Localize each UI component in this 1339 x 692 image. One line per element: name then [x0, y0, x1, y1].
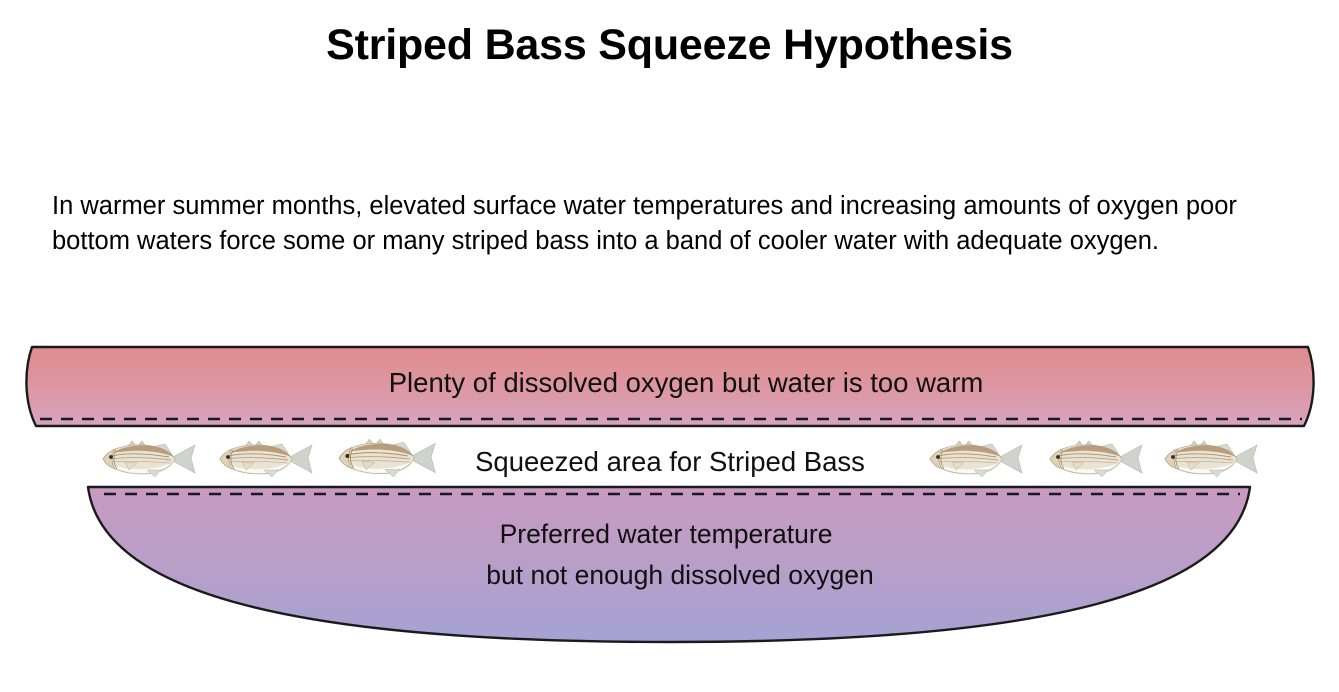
striped-bass-fish-icon [930, 441, 1022, 477]
striped-bass-fish-icon [220, 441, 312, 477]
fish-group-left [103, 439, 435, 477]
bottom-layer-label-line1: Preferred water temperature [500, 519, 833, 549]
striped-bass-squeeze-diagram: Plenty of dissolved oxygen but water is … [0, 330, 1339, 692]
squeeze-layer-label: Squeezed area for Striped Bass [475, 446, 865, 477]
surface-layer-label: Plenty of dissolved oxygen but water is … [389, 367, 984, 398]
fish-group-right [930, 441, 1257, 477]
page-title: Striped Bass Squeeze Hypothesis [0, 22, 1339, 69]
bottom-layer-label-line2: but not enough dissolved oxygen [486, 560, 874, 590]
striped-bass-fish-icon [1050, 441, 1142, 477]
striped-bass-fish-icon [339, 439, 435, 477]
striped-bass-fish-icon [1165, 441, 1257, 477]
body-paragraph: In warmer summer months, elevated surfac… [52, 189, 1294, 259]
striped-bass-fish-icon [103, 441, 195, 477]
